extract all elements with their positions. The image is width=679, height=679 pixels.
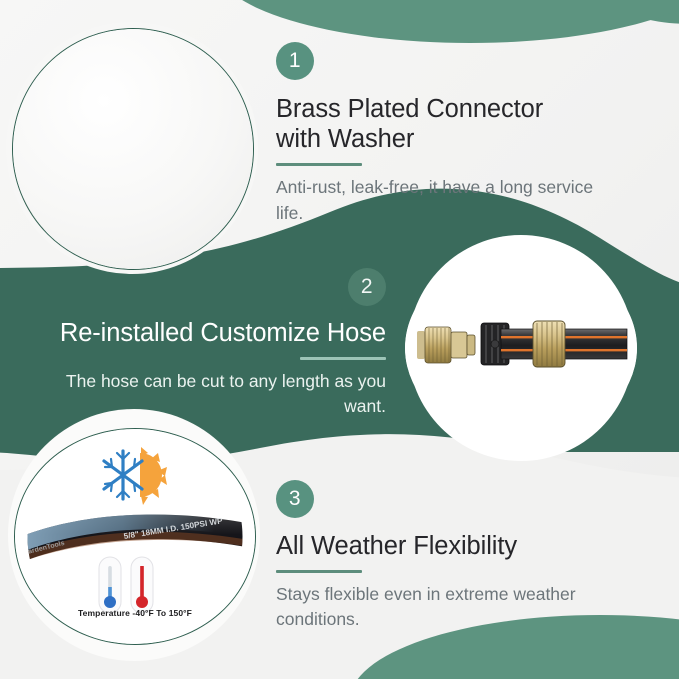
feature-title-2: Re-installed Customize Hose	[20, 318, 386, 348]
feature-description-2: The hose can be cut to any length as you…	[20, 369, 386, 420]
feature-divider-2	[300, 357, 386, 360]
feature-photo-1	[12, 28, 254, 270]
feature-title-3-text: All Weather Flexibility	[276, 532, 517, 560]
feature-photo-3: 5/8" 18MM I.D. 150PSI WP GardenTools	[14, 428, 256, 645]
feature-title-2-text: Re-installed Customize Hose	[60, 319, 386, 347]
feature-badge-2: 2	[348, 268, 386, 306]
temperature-caption: Temperature -40°F To 150°F	[15, 608, 255, 618]
feature-badge-1: 1	[276, 42, 314, 80]
feature-title-1: Brass Plated Connector with Washer	[276, 94, 606, 154]
infographic-canvas: 5/8" 18MM I.D. 150PSI WP GardenTools	[0, 0, 679, 679]
feature-block-2: 2 Re-installed Customize Hose The hose c…	[20, 268, 386, 420]
feature-divider-1	[276, 163, 362, 166]
customizable-hose-illustration	[405, 253, 637, 443]
feature-badge-3: 3	[276, 480, 314, 518]
thermometer-hot	[131, 557, 153, 613]
feature-title-1-line2: with Washer	[276, 125, 414, 153]
feature-description-3: Stays flexible even in extreme weather c…	[276, 582, 616, 633]
feature-title-1-line1: Brass Plated Connector	[276, 95, 543, 123]
feature-divider-3	[276, 570, 362, 573]
feature-block-3: 3 All Weather Flexibility Stays flexible…	[276, 480, 616, 633]
thermometer-cold	[99, 557, 121, 613]
feature-block-1: 1 Brass Plated Connector with Washer Ant…	[276, 42, 606, 226]
feature-title-3: All Weather Flexibility	[276, 531, 616, 561]
feature-photo-2	[405, 253, 637, 443]
feature-description-1: Anti-rust, leak-free, it have a long ser…	[276, 175, 606, 226]
